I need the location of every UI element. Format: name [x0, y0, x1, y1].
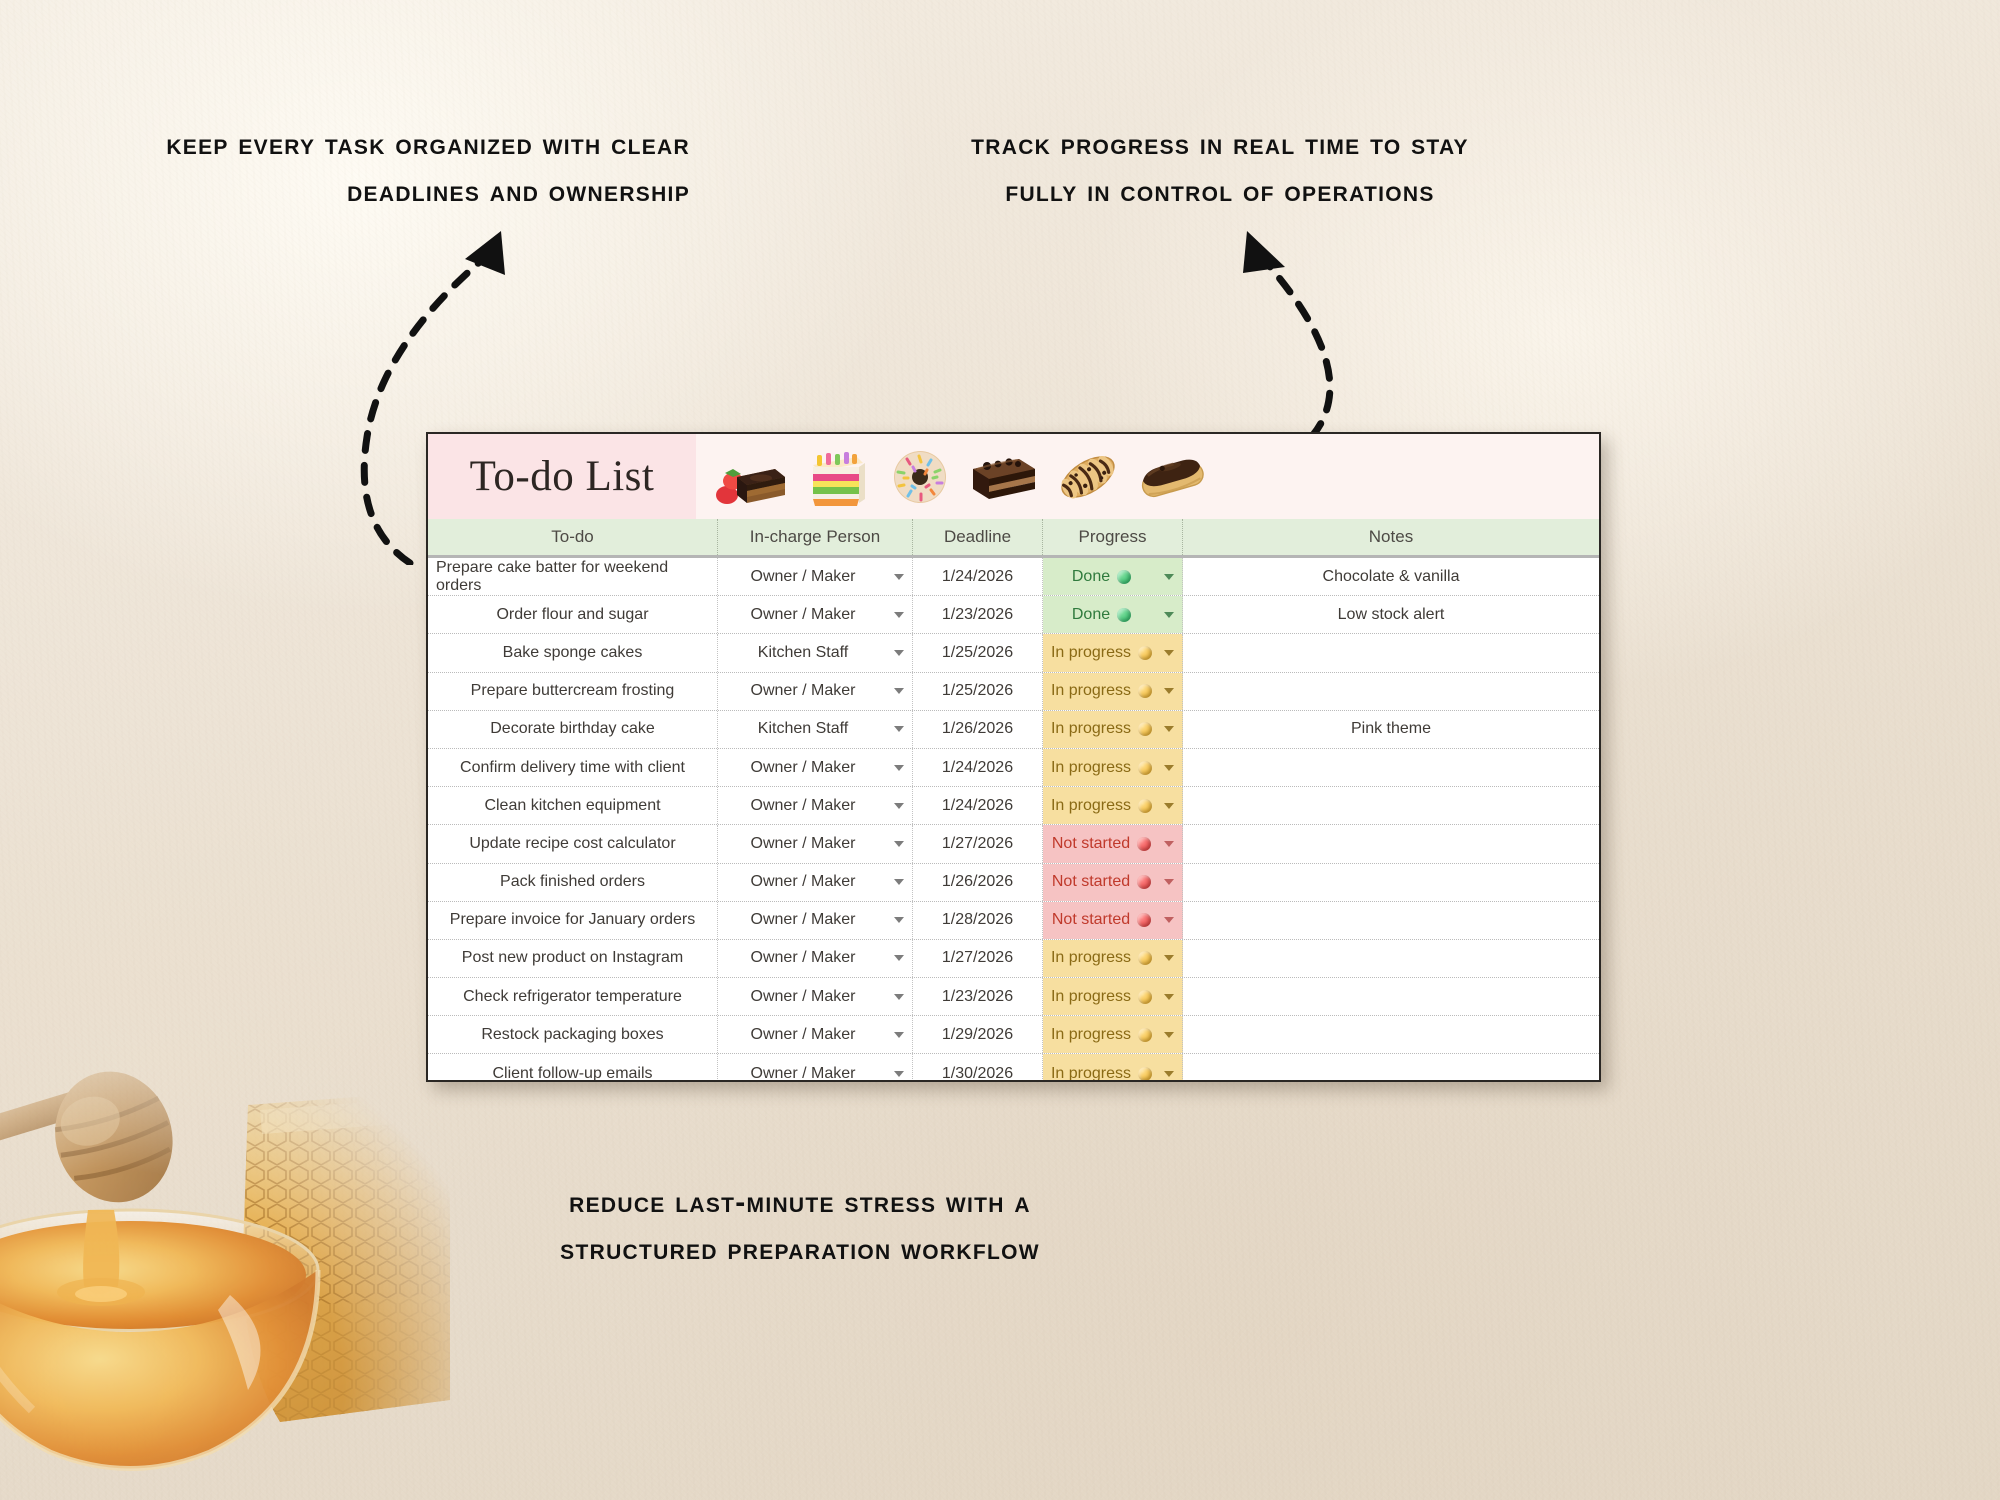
- cell-todo[interactable]: Restock packaging boxes: [428, 1016, 718, 1053]
- status-badge: In progress: [1051, 1065, 1152, 1082]
- chevron-down-icon[interactable]: [1164, 879, 1174, 885]
- table-row[interactable]: Prepare cake batter for weekend ordersOw…: [428, 558, 1599, 596]
- cell-progress-dropdown[interactable]: Not started: [1043, 902, 1183, 939]
- chevron-down-icon[interactable]: [1164, 650, 1174, 656]
- status-badge: In progress: [1051, 720, 1152, 738]
- chevron-down-icon[interactable]: [1164, 688, 1174, 694]
- chevron-down-icon[interactable]: [894, 803, 904, 809]
- cell-progress-dropdown[interactable]: In progress: [1043, 1054, 1183, 1082]
- table-body: Prepare cake batter for weekend ordersOw…: [428, 558, 1599, 1082]
- status-label: In progress: [1051, 759, 1131, 777]
- chevron-down-icon[interactable]: [1164, 841, 1174, 847]
- cell-deadline[interactable]: 1/23/2026: [913, 978, 1043, 1015]
- cell-todo[interactable]: Decorate birthday cake: [428, 711, 718, 748]
- table-row[interactable]: Post new product on InstagramOwner / Mak…: [428, 940, 1599, 978]
- status-dot-icon: [1138, 951, 1152, 965]
- table-row[interactable]: Bake sponge cakesKitchen Staff1/25/2026I…: [428, 634, 1599, 672]
- table-row[interactable]: Check refrigerator temperatureOwner / Ma…: [428, 978, 1599, 1016]
- cell-person-dropdown[interactable]: Kitchen Staff: [718, 634, 913, 671]
- cell-deadline[interactable]: 1/24/2026: [913, 787, 1043, 824]
- status-dot-icon: [1138, 722, 1152, 736]
- callout-right-line-2: fully in control of operations: [905, 169, 1535, 216]
- cell-progress-dropdown[interactable]: In progress: [1043, 978, 1183, 1015]
- cell-progress-dropdown[interactable]: In progress: [1043, 673, 1183, 710]
- rainbow-cake-slice-icon: [794, 441, 878, 513]
- table-row[interactable]: Confirm delivery time with clientOwner /…: [428, 749, 1599, 787]
- cell-todo[interactable]: Prepare invoice for January orders: [428, 902, 718, 939]
- cell-person-dropdown[interactable]: Owner / Maker: [718, 1054, 913, 1082]
- column-header-todo[interactable]: To-do: [428, 519, 718, 555]
- chevron-down-icon[interactable]: [894, 917, 904, 923]
- cell-person-value: Owner / Maker: [751, 759, 856, 777]
- cell-person-value: Kitchen Staff: [758, 644, 848, 662]
- status-badge: In progress: [1051, 797, 1152, 815]
- status-dot-icon: [1137, 875, 1151, 889]
- status-dot-icon: [1138, 990, 1152, 1004]
- cell-deadline[interactable]: 1/29/2026: [913, 1016, 1043, 1053]
- cell-todo[interactable]: Order flour and sugar: [428, 596, 718, 633]
- status-dot-icon: [1138, 761, 1152, 775]
- cell-todo[interactable]: Clean kitchen equipment: [428, 787, 718, 824]
- cell-person-dropdown[interactable]: Owner / Maker: [718, 978, 913, 1015]
- cell-person-value: Owner / Maker: [751, 988, 856, 1006]
- cell-person-dropdown[interactable]: Owner / Maker: [718, 1016, 913, 1053]
- column-header-deadline[interactable]: Deadline: [913, 519, 1043, 555]
- chevron-down-icon[interactable]: [894, 1071, 904, 1077]
- dessert-icon-strip: [696, 434, 1599, 519]
- chevron-down-icon[interactable]: [894, 841, 904, 847]
- cell-progress-dropdown[interactable]: Done: [1043, 558, 1183, 595]
- status-badge: In progress: [1051, 759, 1152, 777]
- title-cell: To-do List: [428, 434, 696, 519]
- status-dot-icon: [1137, 837, 1151, 851]
- cell-progress-dropdown[interactable]: In progress: [1043, 634, 1183, 671]
- cell-deadline[interactable]: 1/30/2026: [913, 1054, 1043, 1082]
- cell-person-value: Owner / Maker: [751, 682, 856, 700]
- cell-person-value: Owner / Maker: [751, 568, 856, 586]
- cell-person-dropdown[interactable]: Kitchen Staff: [718, 711, 913, 748]
- page-title: To-do List: [470, 452, 655, 501]
- status-dot-icon: [1138, 799, 1152, 813]
- cell-person-value: Owner / Maker: [751, 949, 856, 967]
- cell-notes[interactable]: [1183, 1016, 1599, 1053]
- cell-notes[interactable]: [1183, 825, 1599, 862]
- chocolate-croissant-icon: [1046, 441, 1130, 513]
- callout-left: Keep every task organized with clear dea…: [90, 122, 690, 215]
- cell-person-value: Owner / Maker: [751, 797, 856, 815]
- cell-progress-dropdown[interactable]: In progress: [1043, 711, 1183, 748]
- status-dot-icon: [1138, 1028, 1152, 1042]
- status-badge: Not started: [1052, 873, 1151, 891]
- status-dot-icon: [1117, 570, 1131, 584]
- callout-bottom: Reduce last-minute stress with a structu…: [520, 1180, 1080, 1273]
- cell-notes[interactable]: Low stock alert: [1183, 596, 1599, 633]
- sprinkle-donut-icon: [878, 441, 962, 513]
- chevron-down-icon[interactable]: [1164, 574, 1174, 580]
- callout-bottom-line-1: Reduce last-minute stress with a: [520, 1180, 1080, 1227]
- cell-progress-dropdown[interactable]: Not started: [1043, 825, 1183, 862]
- cell-notes[interactable]: [1183, 749, 1599, 786]
- callout-left-line-1: Keep every task organized with clear: [90, 122, 690, 169]
- chevron-down-icon[interactable]: [894, 994, 904, 1000]
- cell-person-value: Owner / Maker: [751, 911, 856, 929]
- chevron-down-icon[interactable]: [894, 1032, 904, 1038]
- cell-notes[interactable]: [1183, 978, 1599, 1015]
- status-label: In progress: [1051, 988, 1131, 1006]
- cell-notes[interactable]: [1183, 940, 1599, 977]
- status-label: In progress: [1051, 1026, 1131, 1044]
- status-badge: Done: [1072, 606, 1131, 624]
- status-label: Not started: [1052, 835, 1130, 853]
- status-label: In progress: [1051, 644, 1131, 662]
- chevron-down-icon[interactable]: [894, 726, 904, 732]
- chocolate-cake-slice-icon: [962, 441, 1046, 513]
- cell-person-dropdown[interactable]: Owner / Maker: [718, 787, 913, 824]
- cell-todo[interactable]: Pack finished orders: [428, 864, 718, 901]
- chocolate-eclair-icon: [1130, 441, 1214, 513]
- cell-deadline[interactable]: 1/26/2026: [913, 864, 1043, 901]
- cell-person-value: Owner / Maker: [751, 835, 856, 853]
- chevron-down-icon[interactable]: [894, 688, 904, 694]
- cell-notes[interactable]: [1183, 1054, 1599, 1082]
- callout-bottom-line-2: structured preparation workflow: [520, 1227, 1080, 1274]
- cell-person-dropdown[interactable]: Owner / Maker: [718, 749, 913, 786]
- chevron-down-icon[interactable]: [1164, 726, 1174, 732]
- cell-todo[interactable]: Client follow-up emails: [428, 1054, 718, 1082]
- cell-deadline[interactable]: 1/27/2026: [913, 940, 1043, 977]
- status-dot-icon: [1137, 913, 1151, 927]
- chevron-down-icon[interactable]: [1164, 765, 1174, 771]
- chevron-down-icon[interactable]: [1164, 955, 1174, 961]
- chevron-down-icon[interactable]: [894, 650, 904, 656]
- cell-progress-dropdown[interactable]: In progress: [1043, 787, 1183, 824]
- chevron-down-icon[interactable]: [1164, 994, 1174, 1000]
- cell-progress-dropdown[interactable]: In progress: [1043, 749, 1183, 786]
- chevron-down-icon[interactable]: [894, 612, 904, 618]
- chevron-down-icon[interactable]: [1164, 917, 1174, 923]
- cell-person-value: Owner / Maker: [751, 1065, 856, 1082]
- status-label: In progress: [1051, 682, 1131, 700]
- status-dot-icon: [1138, 684, 1152, 698]
- table-row[interactable]: Restock packaging boxesOwner / Maker1/29…: [428, 1016, 1599, 1054]
- chevron-down-icon[interactable]: [894, 879, 904, 885]
- chevron-down-icon[interactable]: [1164, 612, 1174, 618]
- callout-left-line-2: deadlines and ownership: [90, 169, 690, 216]
- chevron-down-icon[interactable]: [1164, 1032, 1174, 1038]
- cell-todo[interactable]: Check refrigerator temperature: [428, 978, 718, 1015]
- table-row[interactable]: Client follow-up emailsOwner / Maker1/30…: [428, 1054, 1599, 1082]
- status-badge: In progress: [1051, 1026, 1152, 1044]
- sheet-header-band: To-do List: [428, 434, 1599, 519]
- cell-deadline[interactable]: 1/25/2026: [913, 634, 1043, 671]
- status-badge: In progress: [1051, 949, 1152, 967]
- status-label: Not started: [1052, 873, 1130, 891]
- cell-todo[interactable]: Confirm delivery time with client: [428, 749, 718, 786]
- chevron-down-icon[interactable]: [1164, 1071, 1174, 1077]
- cell-person-dropdown[interactable]: Owner / Maker: [718, 902, 913, 939]
- cell-deadline[interactable]: 1/26/2026: [913, 711, 1043, 748]
- cell-todo[interactable]: Update recipe cost calculator: [428, 825, 718, 862]
- cell-deadline[interactable]: 1/28/2026: [913, 902, 1043, 939]
- cell-notes[interactable]: Pink theme: [1183, 711, 1599, 748]
- status-badge: In progress: [1051, 682, 1152, 700]
- cell-person-value: Owner / Maker: [751, 606, 856, 624]
- table-row[interactable]: Decorate birthday cakeKitchen Staff1/26/…: [428, 711, 1599, 749]
- callout-right-line-1: Track progress in real time to stay: [905, 122, 1535, 169]
- table-row[interactable]: Prepare buttercream frostingOwner / Make…: [428, 673, 1599, 711]
- status-label: Done: [1072, 606, 1110, 624]
- cell-person-value: Owner / Maker: [751, 873, 856, 891]
- cell-progress-dropdown[interactable]: Done: [1043, 596, 1183, 633]
- status-label: In progress: [1051, 1065, 1131, 1082]
- cell-notes[interactable]: [1183, 787, 1599, 824]
- status-label: In progress: [1051, 797, 1131, 815]
- table-row[interactable]: Order flour and sugarOwner / Maker1/23/2…: [428, 596, 1599, 634]
- chevron-down-icon[interactable]: [894, 574, 904, 580]
- column-header-progress[interactable]: Progress: [1043, 519, 1183, 555]
- cell-todo[interactable]: Post new product on Instagram: [428, 940, 718, 977]
- cell-person-value: Kitchen Staff: [758, 720, 848, 738]
- cell-person-dropdown[interactable]: Owner / Maker: [718, 940, 913, 977]
- cell-notes[interactable]: [1183, 673, 1599, 710]
- cell-person-dropdown[interactable]: Owner / Maker: [718, 673, 913, 710]
- cell-person-dropdown[interactable]: Owner / Maker: [718, 825, 913, 862]
- status-label: Not started: [1052, 911, 1130, 929]
- cell-todo[interactable]: Prepare cake batter for weekend orders: [428, 558, 718, 595]
- table-row[interactable]: Clean kitchen equipmentOwner / Maker1/24…: [428, 787, 1599, 825]
- callout-right: Track progress in real time to stay full…: [905, 122, 1535, 215]
- table-row[interactable]: Update recipe cost calculatorOwner / Mak…: [428, 825, 1599, 863]
- chevron-down-icon[interactable]: [1164, 803, 1174, 809]
- chevron-down-icon[interactable]: [894, 955, 904, 961]
- status-badge: Not started: [1052, 835, 1151, 853]
- status-badge: Done: [1072, 568, 1131, 586]
- cell-deadline[interactable]: 1/24/2026: [913, 749, 1043, 786]
- status-label: In progress: [1051, 720, 1131, 738]
- column-header-row: To-do In-charge Person Deadline Progress…: [428, 519, 1599, 558]
- cell-person-dropdown[interactable]: Owner / Maker: [718, 864, 913, 901]
- table-row[interactable]: Pack finished ordersOwner / Maker1/26/20…: [428, 864, 1599, 902]
- status-badge: In progress: [1051, 644, 1152, 662]
- table-row[interactable]: Prepare invoice for January ordersOwner …: [428, 902, 1599, 940]
- cell-notes[interactable]: [1183, 634, 1599, 671]
- cell-person-dropdown[interactable]: Owner / Maker: [718, 558, 913, 595]
- cell-todo[interactable]: Prepare buttercream frosting: [428, 673, 718, 710]
- cell-progress-dropdown[interactable]: Not started: [1043, 864, 1183, 901]
- todo-list-spreadsheet[interactable]: To-do List: [426, 432, 1601, 1082]
- cell-progress-dropdown[interactable]: In progress: [1043, 1016, 1183, 1053]
- cell-deadline[interactable]: 1/23/2026: [913, 596, 1043, 633]
- cell-person-dropdown[interactable]: Owner / Maker: [718, 596, 913, 633]
- cell-todo[interactable]: Bake sponge cakes: [428, 634, 718, 671]
- cell-person-value: Owner / Maker: [751, 1026, 856, 1044]
- status-dot-icon: [1117, 608, 1131, 622]
- cell-deadline[interactable]: 1/24/2026: [913, 558, 1043, 595]
- cell-deadline[interactable]: 1/27/2026: [913, 825, 1043, 862]
- status-dot-icon: [1138, 1067, 1152, 1081]
- column-header-notes[interactable]: Notes: [1183, 519, 1599, 555]
- cell-notes[interactable]: [1183, 902, 1599, 939]
- status-dot-icon: [1138, 646, 1152, 660]
- status-badge: In progress: [1051, 988, 1152, 1006]
- column-header-person[interactable]: In-charge Person: [718, 519, 913, 555]
- status-label: Done: [1072, 568, 1110, 586]
- cell-notes[interactable]: Chocolate & vanilla: [1183, 558, 1599, 595]
- cell-deadline[interactable]: 1/25/2026: [913, 673, 1043, 710]
- status-label: In progress: [1051, 949, 1131, 967]
- chocolate-brownie-strawberry-icon: [710, 441, 794, 513]
- cell-progress-dropdown[interactable]: In progress: [1043, 940, 1183, 977]
- cell-notes[interactable]: [1183, 864, 1599, 901]
- status-badge: Not started: [1052, 911, 1151, 929]
- chevron-down-icon[interactable]: [894, 765, 904, 771]
